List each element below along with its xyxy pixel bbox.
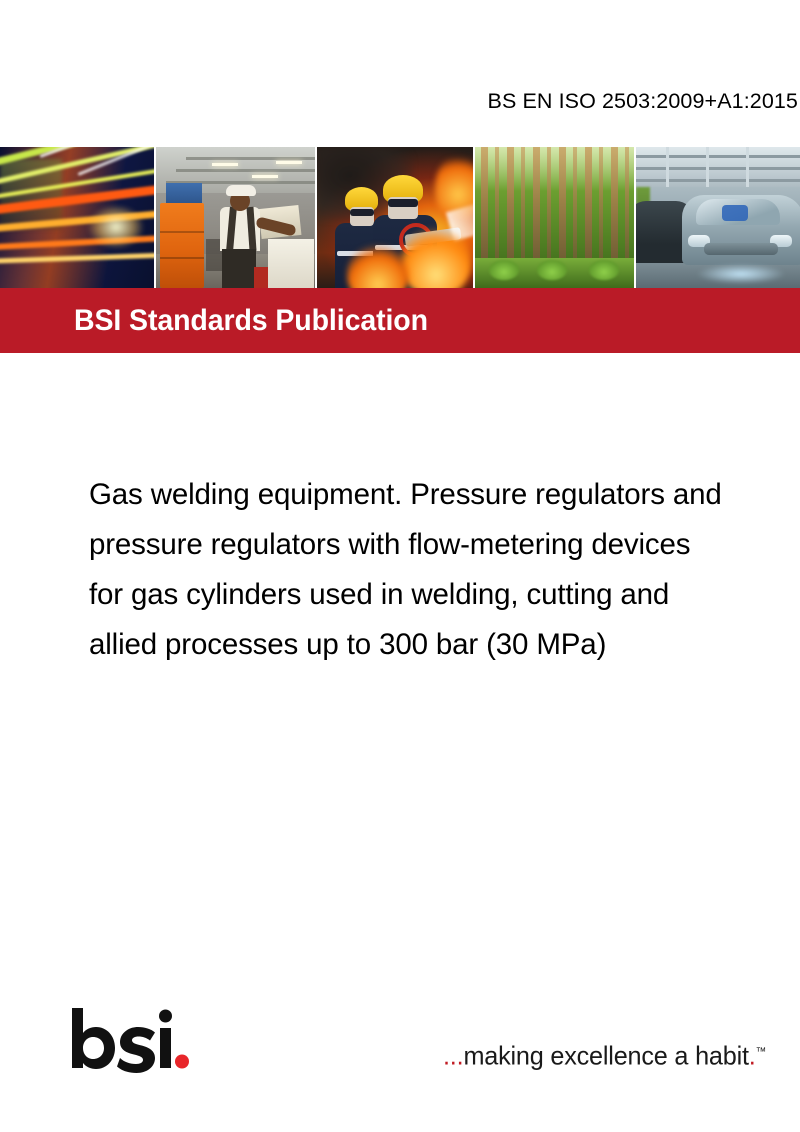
cover-photo-banner bbox=[0, 147, 800, 288]
tree-trunk-12 bbox=[625, 147, 629, 264]
firefighter-visor-rear bbox=[350, 209, 374, 216]
ceiling-lamp-3 bbox=[276, 161, 302, 164]
tree-trunk-9 bbox=[585, 147, 592, 264]
tree-trunk-1 bbox=[481, 147, 488, 264]
roof-strip-2 bbox=[706, 147, 709, 187]
tree-trunk-10 bbox=[599, 147, 603, 264]
roof-strip-1 bbox=[666, 147, 669, 187]
automotive-production-photo bbox=[636, 147, 800, 288]
title-line-4: allied processes up to 300 bar (30 MPa) bbox=[89, 620, 789, 670]
roof-beam-2 bbox=[636, 167, 800, 170]
tree-trunk-11 bbox=[611, 147, 618, 264]
tagline-period: . bbox=[749, 1041, 756, 1071]
tree-trunk-6 bbox=[547, 147, 551, 264]
orange-crate bbox=[160, 203, 204, 288]
forest-photo bbox=[475, 147, 634, 288]
tree-trunk-7 bbox=[559, 147, 566, 264]
undergrowth-1 bbox=[489, 260, 519, 280]
worker-trousers bbox=[222, 249, 256, 288]
ceiling-beam-2 bbox=[176, 169, 315, 172]
carton-lower bbox=[268, 239, 314, 288]
bsi-standards-publication-band: BSI Standards Publication bbox=[0, 288, 800, 353]
title-line-2: pressure regulators with flow-metering d… bbox=[89, 520, 789, 570]
bsi-logo bbox=[70, 1006, 190, 1076]
light-trail-orange-4 bbox=[0, 251, 154, 264]
roof-beam-1 bbox=[636, 155, 800, 158]
publication-band-label: BSI Standards Publication bbox=[74, 303, 428, 339]
firefighters-photo bbox=[317, 147, 472, 288]
tagline-ellipsis: ... bbox=[443, 1041, 463, 1071]
car-grille bbox=[704, 243, 778, 255]
undergrowth-2 bbox=[537, 260, 567, 280]
title-line-3: for gas cylinders used in welding, cutti… bbox=[89, 570, 789, 620]
tree-trunk-3 bbox=[507, 147, 514, 264]
headlight-glow bbox=[88, 205, 144, 249]
tree-trunk-5 bbox=[533, 147, 540, 264]
ceiling-lamp-2 bbox=[252, 175, 278, 178]
worker-cap bbox=[226, 185, 256, 196]
standard-number-header: BS EN ISO 2503:2009+A1:2015 bbox=[488, 88, 799, 114]
ceiling-lamp-1 bbox=[212, 163, 238, 166]
document-title: Gas welding equipment. Pressure regulato… bbox=[89, 470, 789, 670]
roof-beam-3 bbox=[636, 179, 800, 182]
undergrowth-3 bbox=[589, 260, 619, 280]
tree-trunk-2 bbox=[495, 147, 499, 264]
tree-trunk-8 bbox=[573, 147, 577, 264]
blue-crate bbox=[166, 183, 202, 205]
title-line-1: Gas welding equipment. Pressure regulato… bbox=[89, 470, 789, 520]
tree-trunk-4 bbox=[521, 147, 525, 264]
firefighter-visor-front bbox=[388, 199, 418, 207]
bsi-tagline: ...making excellence a habit.™ bbox=[443, 1036, 766, 1072]
light-trails-transport-photo bbox=[0, 147, 154, 288]
tagline-text: making excellence a habit bbox=[463, 1041, 748, 1071]
warehouse-worker-photo bbox=[156, 147, 315, 288]
car-interior-seat bbox=[722, 205, 748, 221]
ceiling-beam-1 bbox=[186, 157, 315, 160]
roof-strip-3 bbox=[746, 147, 749, 187]
trademark-icon: ™ bbox=[755, 1046, 766, 1058]
inspection-light-glow bbox=[696, 264, 786, 284]
